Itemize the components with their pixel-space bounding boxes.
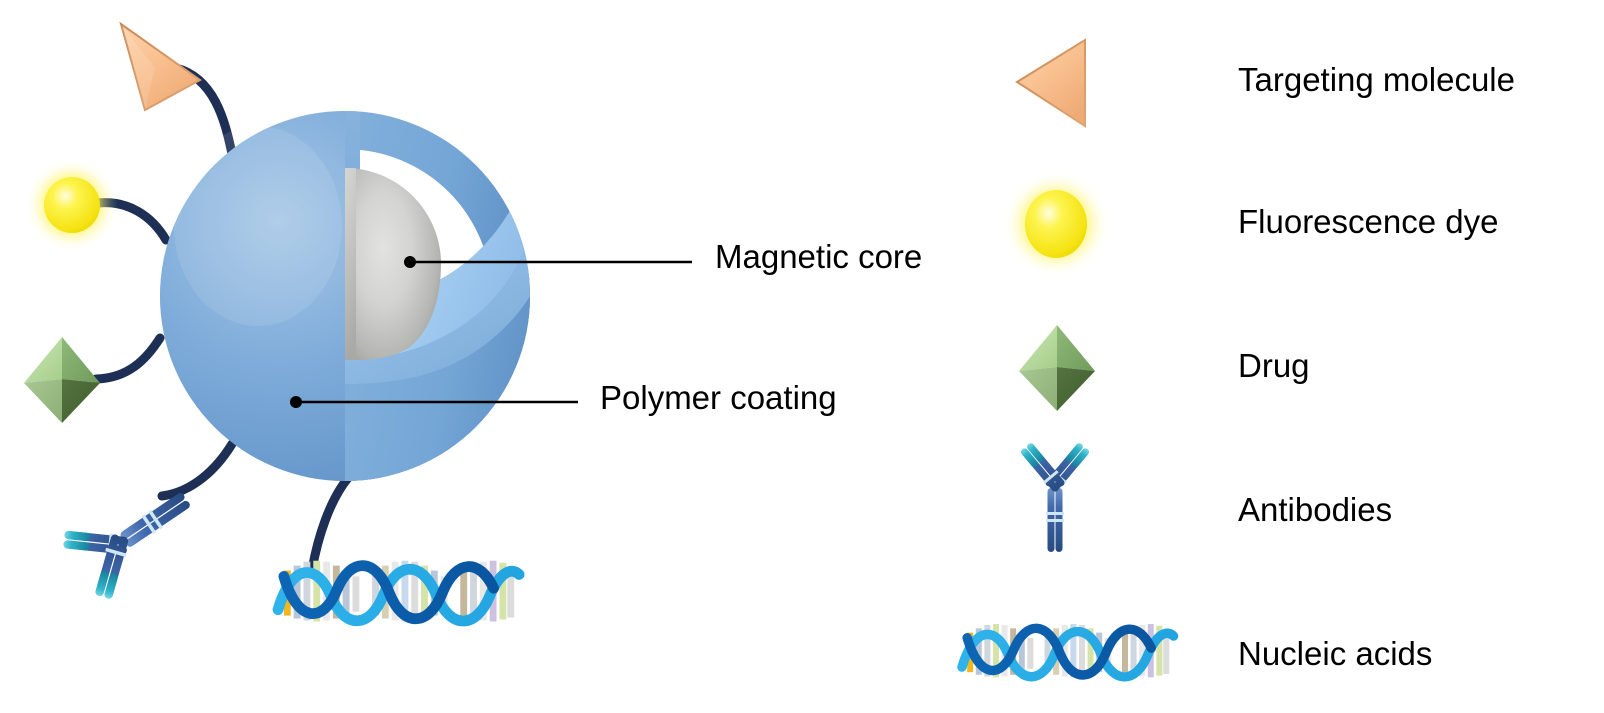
legend-icon-targeting-molecule [1017,40,1085,126]
ligand-fluorescence-dye [26,159,118,251]
octahedron-icon-face-bottom-left [1019,367,1057,411]
legend-icon-fluorescence-dye [1004,172,1108,276]
legend-label-antibodies: Antibodies [1238,493,1392,526]
ligand-targeting-molecule [121,24,200,110]
leader-dot-magnetic-core [404,256,416,268]
octahedron-icon-face-top-left [1019,325,1057,371]
ligand-drug [24,337,100,423]
shell-highlight [174,126,342,326]
legend-label-drug: Drug [1238,349,1310,382]
legend-icon-nucleic-acids [962,624,1174,677]
octahedron-icon-face-top-right [62,337,100,383]
callout-label-polymer-coating: Polymer coating [600,381,837,414]
octahedron-icon-face-top-right [1057,325,1095,371]
legend-label-targeting-molecule: Targeting molecule [1238,63,1515,96]
legend-label-nucleic-acids: Nucleic acids [1238,637,1432,670]
legend-icons [962,40,1174,677]
tether-drug [96,338,160,379]
legend-icon-antibodies [1019,441,1092,552]
callout-label-magnetic-core: Magnetic core [715,240,922,273]
legend-icon-drug [1019,325,1095,411]
glowing-sphere-icon [44,177,100,233]
tether-nucleic-acid [312,478,348,570]
glowing-sphere-icon [1025,190,1087,258]
octahedron-icon-face-top-left [24,337,62,383]
octahedron-icon-face-bottom-right [1057,367,1095,411]
legend-label-fluorescence-dye: Fluorescence dye [1238,205,1498,238]
octahedron-icon-face-bottom-right [62,379,100,423]
diagram-canvas: Magnetic core Polymer coating Targeting … [0,0,1604,713]
nanoparticle [160,111,530,481]
leader-dot-polymer-coating [290,396,302,408]
tether-antibody [162,444,232,496]
octahedron-icon-face-bottom-left [24,379,62,423]
nanoparticle-scene [0,0,1604,713]
ligand-nucleic-acid [278,561,519,622]
triangle-icon [1017,40,1085,126]
